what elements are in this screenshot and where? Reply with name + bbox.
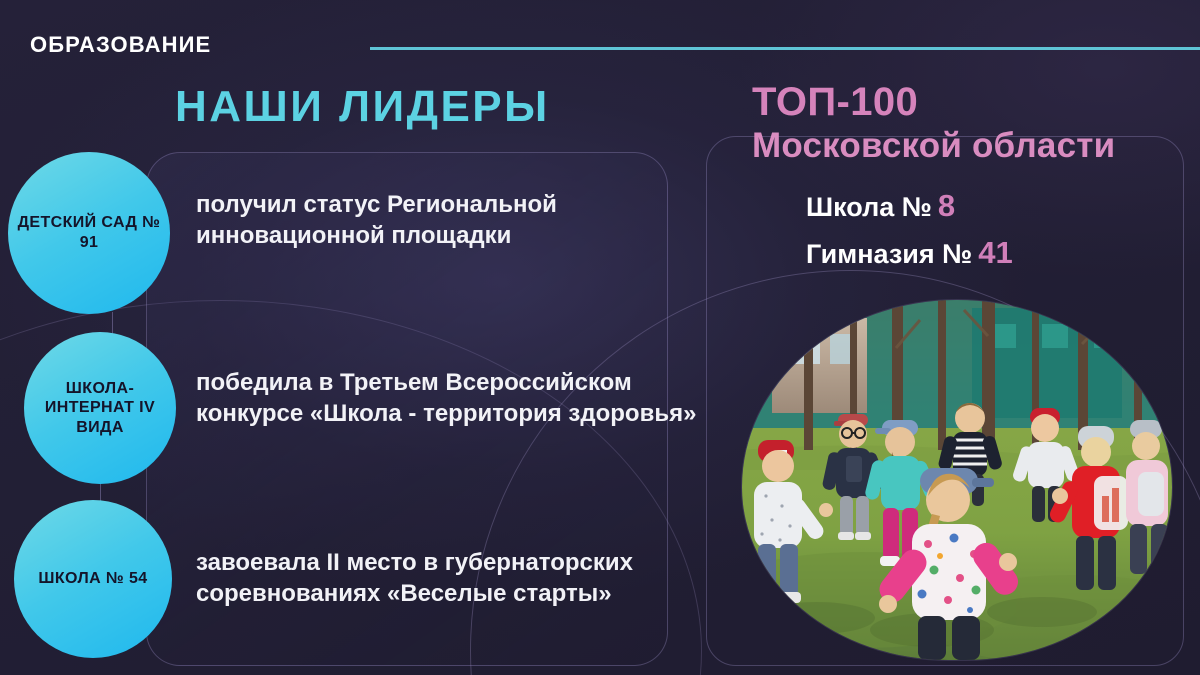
- leader-description-2: победила в Третьем Всероссийском конкурс…: [196, 368, 708, 429]
- leader-description-3: завоевала II место в губернаторских соре…: [196, 548, 706, 609]
- header-rule: [370, 47, 1200, 50]
- top100-label-2: Гимназия №: [806, 239, 972, 269]
- bubble-connector-1: [112, 312, 113, 334]
- section-eyebrow: ОБРАЗОВАНИЕ: [30, 32, 211, 58]
- bubble-connector-2: [100, 482, 101, 502]
- top100-row-school-8: Школа №8: [806, 188, 1013, 224]
- page-title-left: НАШИ ЛИДЕРЫ: [175, 82, 550, 132]
- bubble-kindergarten-91[interactable]: ДЕТСКИЙ САД № 91: [8, 152, 170, 314]
- top100-list: Школа №8 Гимназия №41: [806, 188, 1013, 282]
- bubble-boarding-school-iv[interactable]: ШКОЛА-ИНТЕРНАТ IV ВИДА: [24, 332, 176, 484]
- photo-illustration: [742, 300, 1172, 660]
- leader-description-1: получил статус Региональной инновационно…: [196, 190, 706, 251]
- top100-number-1: 8: [938, 188, 955, 223]
- photo-children-circle-game: [742, 300, 1172, 660]
- title-right-sub: Московской области: [752, 128, 1115, 163]
- bubble-school-54[interactable]: ШКОЛА № 54: [14, 500, 172, 658]
- title-right-main: ТОП-100: [752, 80, 918, 124]
- top100-label-1: Школа №: [806, 192, 932, 222]
- top100-number-2: 41: [978, 235, 1012, 270]
- slide-root: ОБРАЗОВАНИЕ НАШИ ЛИДЕРЫ ТОП-100 Московск…: [0, 0, 1200, 675]
- page-title-right: ТОП-100 Московской области: [752, 82, 1115, 163]
- top100-row-gymnasium-41: Гимназия №41: [806, 235, 1013, 271]
